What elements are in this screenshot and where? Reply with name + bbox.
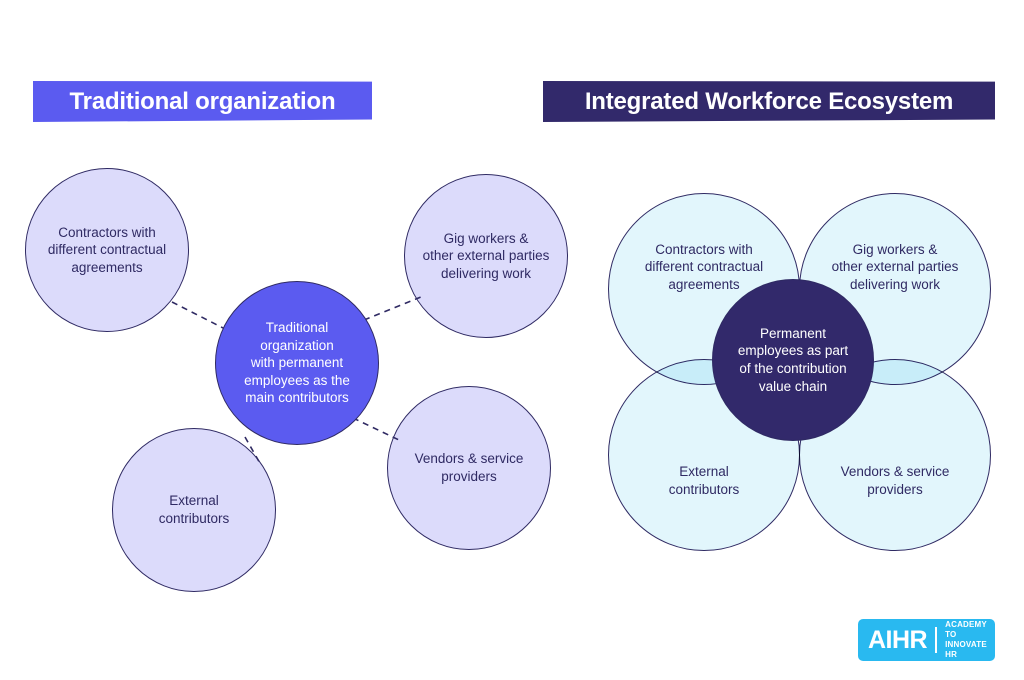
node-traditional-gig-workers-label: Gig workers & other external parties del… [413,230,560,283]
aihr-logo[interactable]: AIHR ACADEMY TO INNOVATE HR [858,619,995,661]
node-traditional-vendors-label: Vendors & service providers [405,450,534,485]
node-traditional-external-contributors-label: External contributors [149,492,240,527]
node-ecosystem-contractors-label: Contractors with different contractual a… [635,241,773,294]
logo-divider [935,627,937,653]
node-traditional-external-contributors[interactable]: External contributors [112,428,276,592]
node-traditional-contractors[interactable]: Contractors with different contractual a… [25,168,189,332]
node-ecosystem-external-contributors-label: External contributors [659,463,750,498]
node-traditional-vendors[interactable]: Vendors & service providers [387,386,551,550]
node-traditional-contractors-label: Contractors with different contractual a… [38,224,176,277]
aihr-logo-tagline: ACADEMY TO INNOVATE HR [945,620,987,661]
connector-gig-to-center [364,297,421,320]
connector-contractors-to-center [172,302,229,331]
panel-title-traditional-label: Traditional organization [70,88,336,116]
node-traditional-center[interactable]: Traditional organization with permanent … [215,281,379,445]
node-ecosystem-vendors-label: Vendors & service providers [831,463,960,498]
node-ecosystem-center[interactable]: Permanent employees as part of the contr… [712,279,874,441]
panel-title-ecosystem-label: Integrated Workforce Ecosystem [585,88,953,116]
node-ecosystem-gig-workers-label: Gig workers & other external parties del… [822,241,969,294]
node-traditional-gig-workers[interactable]: Gig workers & other external parties del… [404,174,568,338]
aihr-logo-wordmark: AIHR [868,628,927,653]
node-traditional-center-label: Traditional organization with permanent … [234,319,360,407]
node-ecosystem-center-label: Permanent employees as part of the contr… [728,325,858,395]
panel-title-ecosystem: Integrated Workforce Ecosystem [543,81,995,122]
panel-title-traditional: Traditional organization [33,81,372,122]
